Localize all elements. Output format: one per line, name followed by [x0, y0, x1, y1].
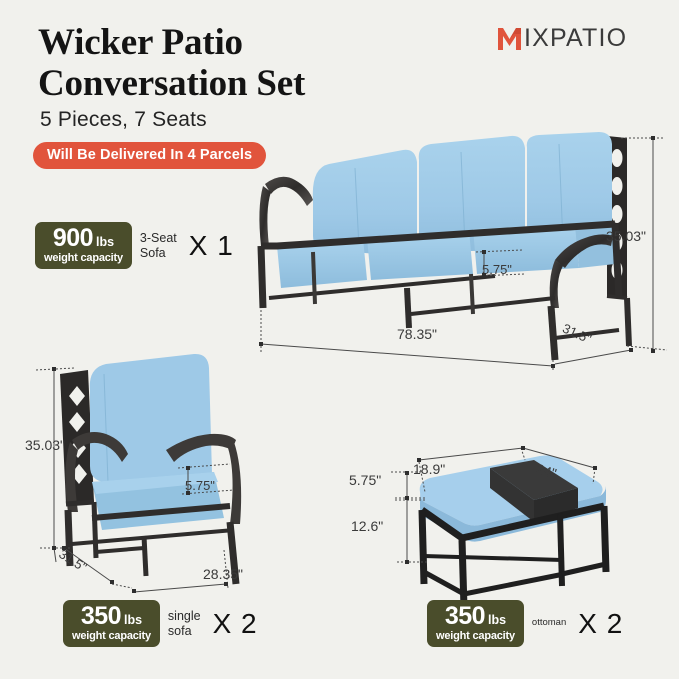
sofa-width-dimension: 78.35" [397, 326, 437, 342]
brand-logo: IXPATIO [497, 24, 627, 53]
badge-capacity-caption: weight capacity [44, 253, 123, 264]
chair-width-dimension: 28.35" [203, 566, 243, 582]
page-subtitle: 5 Pieces, 7 Seats [40, 108, 207, 132]
product-label: ottoman [532, 618, 566, 629]
weight-capacity-badge: 350 lbs weight capacity [63, 600, 160, 647]
chair-cushion-leader [172, 462, 238, 500]
ottoman-width-dimension: 18.9" [413, 461, 445, 477]
product-quantity: X 2 [213, 608, 258, 640]
product-quantity: X 1 [189, 230, 234, 262]
three-seat-sofa-badge-group: 900 lbs weight capacity 3-Seat Sofa X 1 [35, 222, 234, 269]
chair-height-dimension: 35.03" [25, 437, 65, 453]
page-title: Wicker Patio Conversation Set [38, 22, 438, 105]
logo-m-icon [497, 26, 523, 52]
ottoman-dimension-lines [345, 440, 625, 570]
title-line-2: Conversation Set [38, 63, 438, 104]
brand-name: IXPATIO [524, 24, 627, 53]
badge-capacity-value: 900 [53, 226, 93, 251]
product-label: single sofa [168, 609, 201, 638]
badge-capacity-unit: lbs [488, 614, 506, 627]
badge-capacity-unit: lbs [124, 614, 142, 627]
single-sofa-badge-group: 350 lbs weight capacity single sofa X 2 [63, 600, 258, 647]
badge-capacity-caption: weight capacity [436, 631, 515, 642]
ottoman-leg-height-dimension: 12.6" [351, 518, 383, 534]
badge-capacity-unit: lbs [96, 236, 114, 249]
weight-capacity-badge: 900 lbs weight capacity [35, 222, 132, 269]
product-label: 3-Seat Sofa [140, 231, 177, 260]
three-seat-sofa-dimension-lines [255, 128, 675, 378]
weight-capacity-badge: 350 lbs weight capacity [427, 600, 524, 647]
delivery-banner: Will Be Delivered In 4 Parcels [33, 142, 266, 169]
sofa-cushion-leader [470, 248, 530, 282]
sofa-height-dimension: 35.03" [606, 228, 646, 244]
badge-capacity-value: 350 [81, 604, 121, 629]
badge-capacity-value: 350 [445, 604, 485, 629]
infographic-root: Wicker Patio Conversation Set 5 Pieces, … [0, 0, 679, 679]
title-line-1: Wicker Patio [38, 22, 438, 63]
ottoman-badge-group: 350 lbs weight capacity ottoman X 2 [427, 600, 623, 647]
product-quantity: X 2 [578, 608, 623, 640]
ottoman-cushion-dimension: 5.75" [349, 472, 381, 488]
badge-capacity-caption: weight capacity [72, 631, 151, 642]
